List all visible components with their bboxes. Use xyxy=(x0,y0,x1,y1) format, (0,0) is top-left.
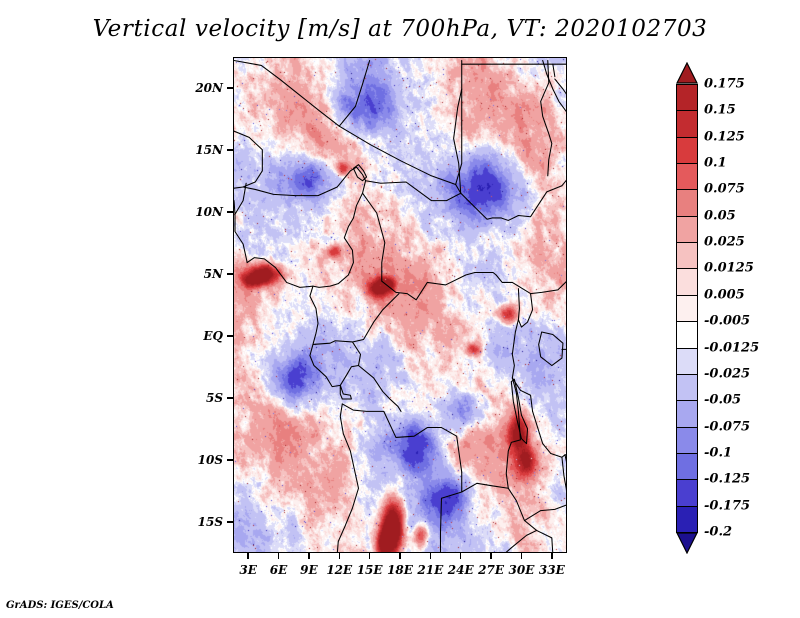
y-axis-label: 5N xyxy=(183,267,223,281)
y-axis-tick xyxy=(227,87,233,89)
colorbar-band xyxy=(676,189,698,217)
y-axis-label: 20N xyxy=(183,81,223,95)
x-axis-label: 9E xyxy=(300,563,318,577)
colorbar-tick-label: 0.075 xyxy=(704,182,745,197)
x-axis-tick xyxy=(339,553,341,559)
y-axis-label: 15N xyxy=(183,143,223,157)
y-axis-label: 10S xyxy=(183,453,223,467)
colorbar-band xyxy=(676,137,698,165)
y-axis-tick xyxy=(227,149,233,151)
colorbar-top-arrow xyxy=(676,62,698,84)
colorbar-band xyxy=(676,400,698,428)
colorbar-band xyxy=(676,427,698,455)
colorbar-band xyxy=(676,348,698,376)
y-axis-tick xyxy=(227,397,233,399)
colorbar-tick-label: 0.15 xyxy=(704,103,736,118)
colorbar xyxy=(676,62,698,554)
x-axis-tick xyxy=(278,553,280,559)
colorbar-band xyxy=(676,84,698,112)
vertical-velocity-field xyxy=(234,58,567,553)
colorbar-band xyxy=(676,295,698,323)
colorbar-band xyxy=(676,321,698,349)
colorbar-band xyxy=(676,242,698,270)
x-axis-label: 6E xyxy=(270,563,288,577)
x-axis-label: 24E xyxy=(448,563,474,577)
x-axis-tick xyxy=(551,553,553,559)
colorbar-tick-label: 0.05 xyxy=(704,208,736,223)
x-axis-tick xyxy=(247,553,249,559)
x-axis-tick xyxy=(369,553,371,559)
x-axis-tick xyxy=(308,553,310,559)
colorbar-tick-label: 0.175 xyxy=(704,77,745,92)
colorbar-tick-label: -0.175 xyxy=(704,498,750,513)
x-axis-label: 12E xyxy=(326,563,352,577)
x-axis-label: 30E xyxy=(509,563,535,577)
y-axis-tick xyxy=(227,211,233,213)
x-axis-tick xyxy=(490,553,492,559)
colorbar-tick-label: -0.075 xyxy=(704,419,750,434)
x-axis-tick xyxy=(521,553,523,559)
colorbar-band xyxy=(676,453,698,481)
colorbar-tick-label: -0.05 xyxy=(704,393,741,408)
x-axis-label: 33E xyxy=(539,563,565,577)
colorbar-band xyxy=(676,268,698,296)
x-axis-label: 27E xyxy=(478,563,504,577)
y-axis-tick xyxy=(227,273,233,275)
colorbar-band xyxy=(676,479,698,507)
colorbar-band xyxy=(676,506,698,534)
y-axis-label: 15S xyxy=(183,515,223,529)
colorbar-band xyxy=(676,374,698,402)
y-axis-label: EQ xyxy=(183,329,223,343)
y-axis-label: 10N xyxy=(183,205,223,219)
map-plot-area xyxy=(233,57,567,553)
y-axis-tick xyxy=(227,459,233,461)
colorbar-tick-label: -0.005 xyxy=(704,314,750,329)
colorbar-tick-label: 0.1 xyxy=(704,156,727,171)
y-axis-tick xyxy=(227,335,233,337)
colorbar-tick-label: 0.125 xyxy=(704,129,745,144)
x-axis-tick xyxy=(430,553,432,559)
page-title: Vertical velocity [m/s] at 700hPa, VT: 2… xyxy=(0,16,800,42)
colorbar-tick-label: 0.005 xyxy=(704,287,745,302)
grads-plot-page: Vertical velocity [m/s] at 700hPa, VT: 2… xyxy=(0,0,800,618)
colorbar-tick-label: 0.025 xyxy=(704,235,745,250)
y-axis-tick xyxy=(227,521,233,523)
x-axis-tick xyxy=(460,553,462,559)
y-axis-label: 5S xyxy=(183,391,223,405)
x-axis-label: 3E xyxy=(239,563,257,577)
colorbar-tick-label: -0.1 xyxy=(704,445,732,460)
colorbar-band xyxy=(676,163,698,191)
x-axis-label: 18E xyxy=(387,563,413,577)
colorbar-band xyxy=(676,110,698,138)
colorbar-tick-label: -0.125 xyxy=(704,472,750,487)
colorbar-tick-label: 0.0125 xyxy=(704,261,754,276)
x-axis-label: 21E xyxy=(417,563,443,577)
x-axis-label: 15E xyxy=(357,563,383,577)
colorbar-band xyxy=(676,216,698,244)
colorbar-tick-label: -0.2 xyxy=(704,525,732,540)
colorbar-tick-label: -0.025 xyxy=(704,366,750,381)
colorbar-tick-label: -0.0125 xyxy=(704,340,759,355)
footer-credit: GrADS: IGES/COLA xyxy=(6,600,114,611)
x-axis-tick xyxy=(399,553,401,559)
colorbar-bottom-arrow xyxy=(676,532,698,554)
